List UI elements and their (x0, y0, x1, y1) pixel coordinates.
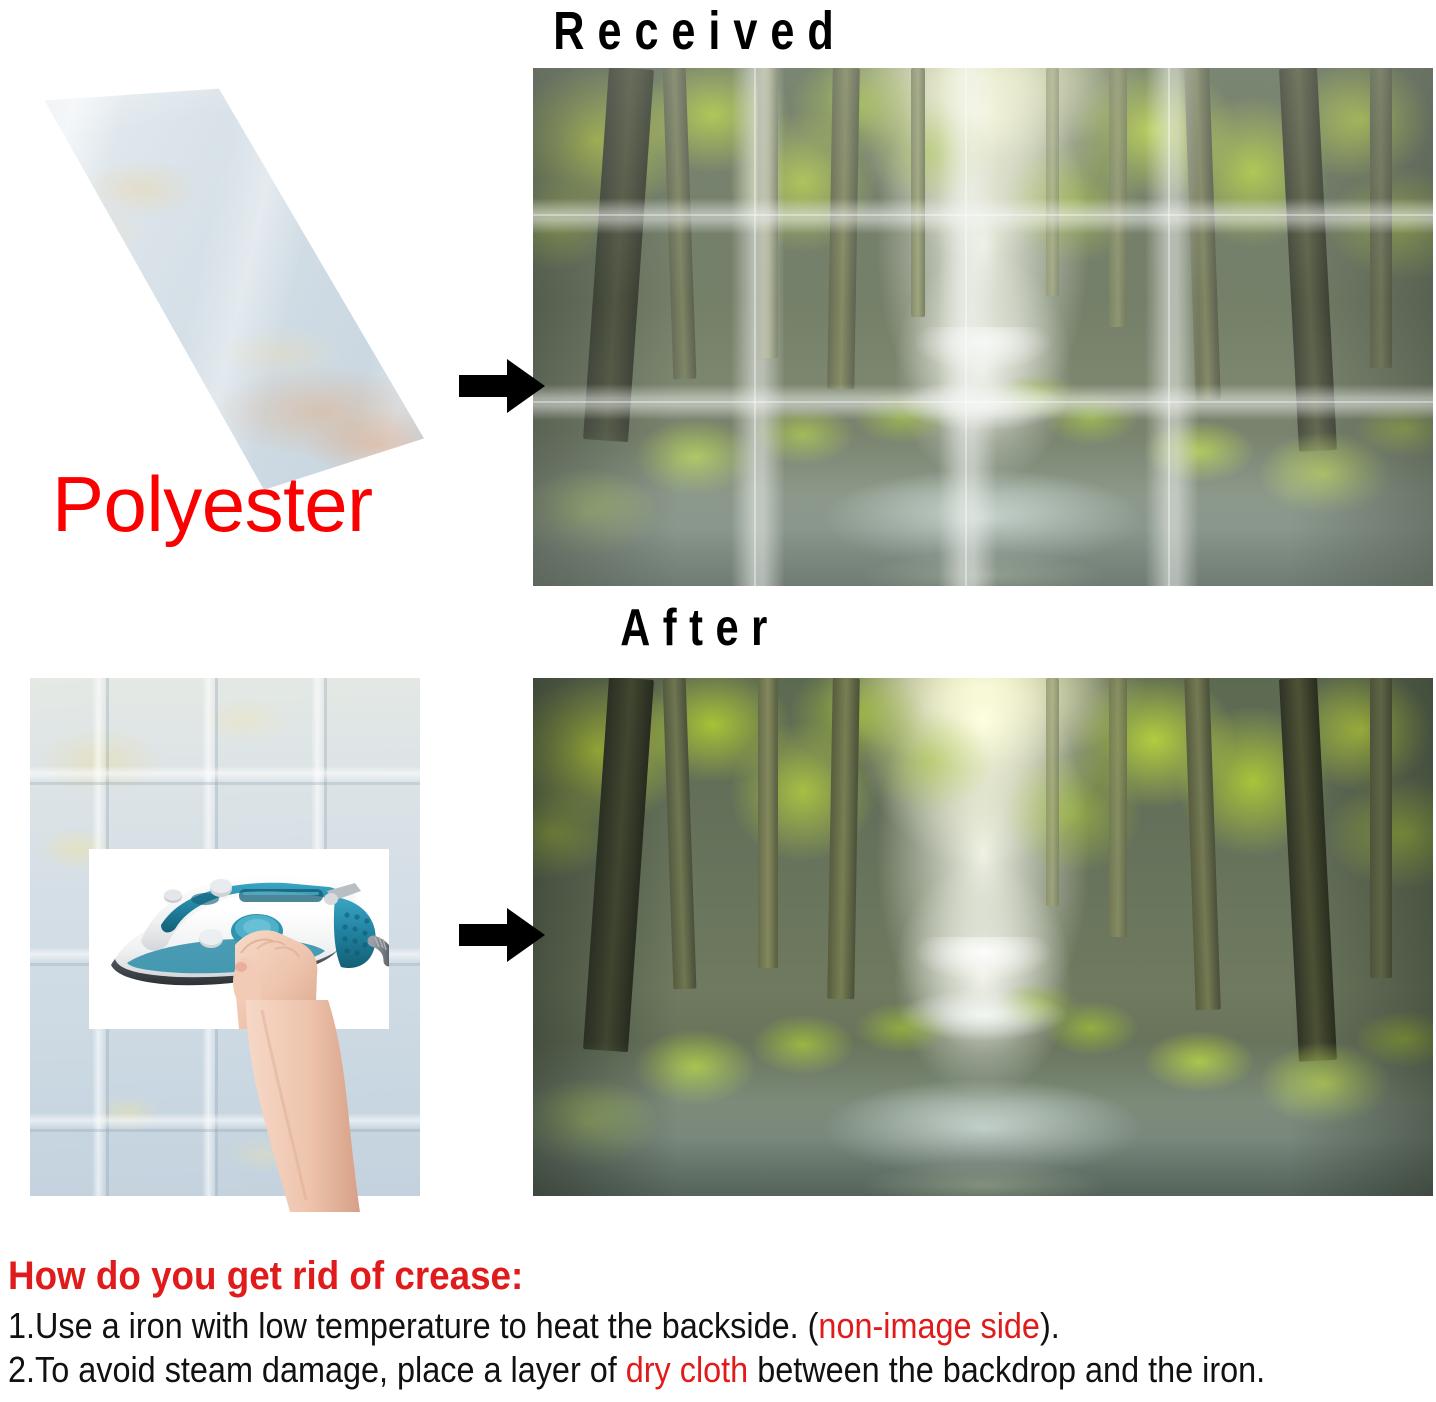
forest-vignette (533, 678, 1433, 1196)
received-backdrop-photo (533, 68, 1433, 586)
polyester-label: Polyester (52, 462, 373, 546)
infographic-canvas: Received Polyester (0, 0, 1436, 1402)
instruction-2-highlight: dry cloth (626, 1349, 748, 1390)
right-arrow-icon (459, 906, 545, 964)
instructions-heading: How do you get rid of crease: (8, 1252, 1322, 1300)
received-heading: Received (484, 2, 916, 60)
care-instructions: How do you get rid of crease: 1.Use a ir… (8, 1252, 1436, 1392)
after-backdrop-photo (533, 678, 1433, 1196)
after-heading: After (504, 600, 896, 656)
folded-fabric-edge-shading (18, 82, 428, 494)
instruction-1-suffix: ). (1040, 1305, 1060, 1346)
forearm (232, 1000, 362, 1212)
fold-crease-overlay (533, 68, 1433, 586)
instruction-2-suffix: between the backdrop and the iron. (748, 1349, 1265, 1390)
instruction-line-1: 1.Use a iron with low temperature to hea… (8, 1304, 1293, 1348)
instruction-2-prefix: 2.To avoid steam damage, place a layer o… (8, 1349, 626, 1390)
instruction-1-highlight: non-image side (818, 1305, 1040, 1346)
folded-fabric-swatch (18, 82, 428, 494)
instruction-line-2: 2.To avoid steam damage, place a layer o… (8, 1348, 1293, 1392)
instruction-1-prefix: 1.Use a iron with low temperature to hea… (8, 1305, 818, 1346)
right-arrow-icon (459, 357, 545, 415)
